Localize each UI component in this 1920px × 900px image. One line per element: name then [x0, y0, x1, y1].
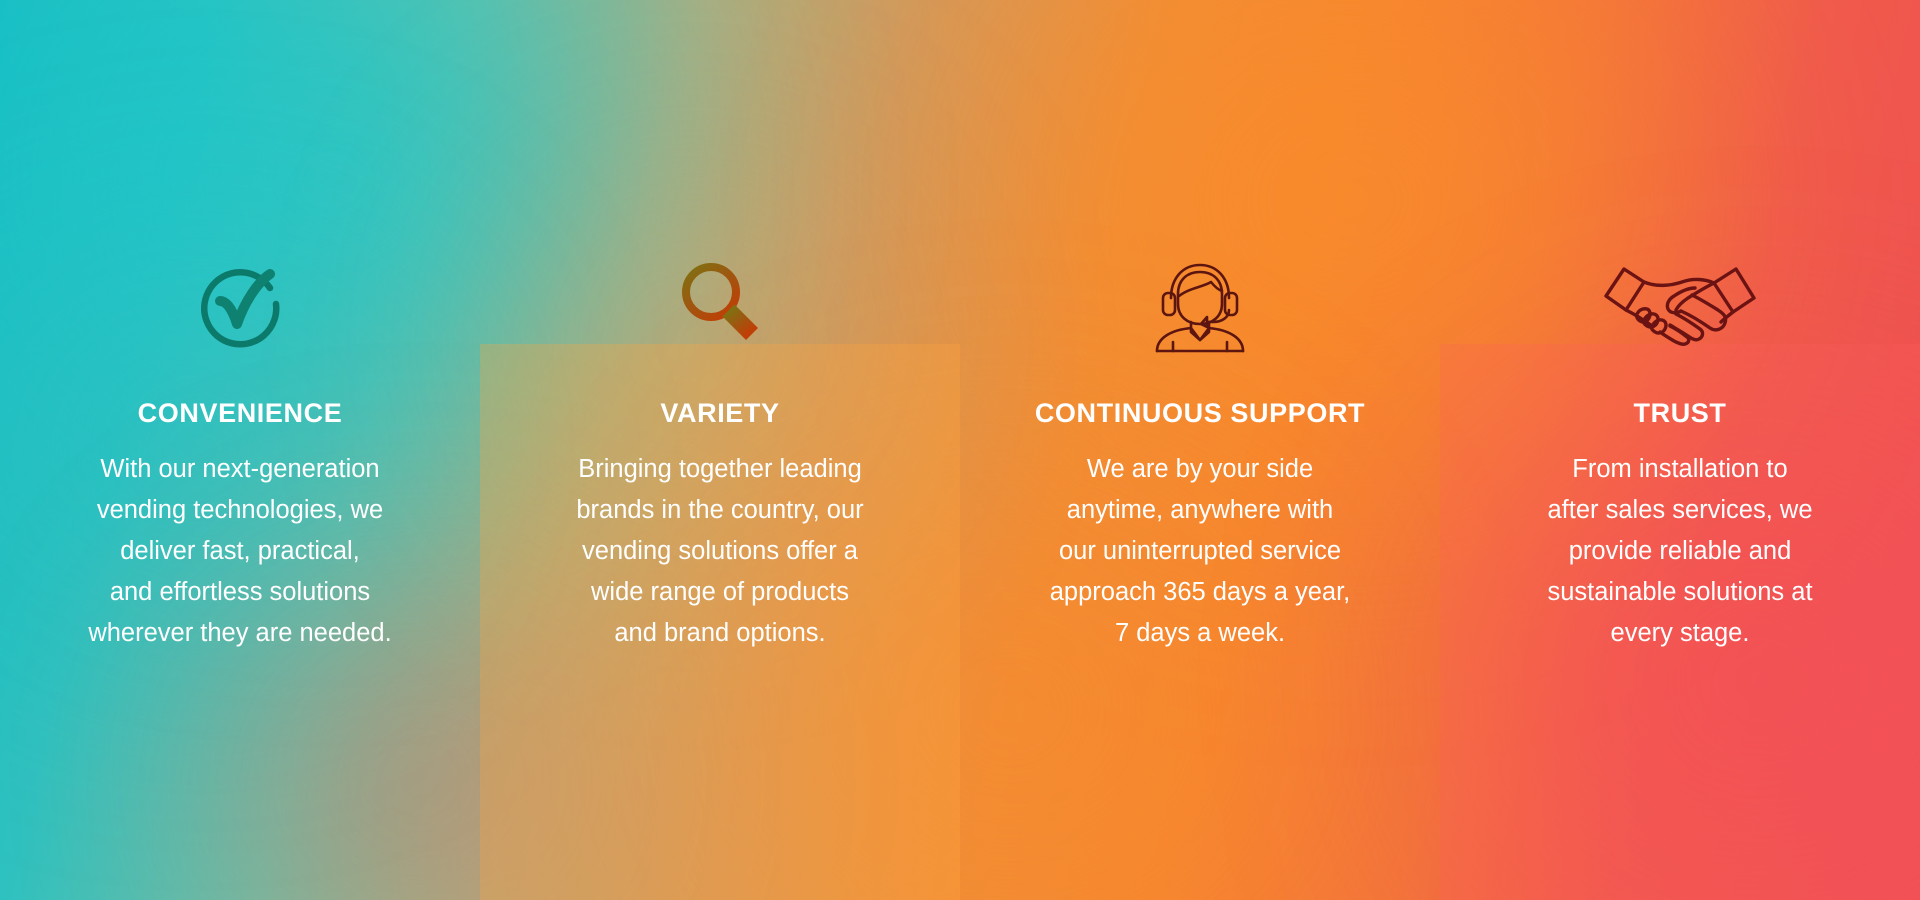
feature-description: Bringing together leading brands in the …: [520, 449, 920, 654]
check-circle-icon: [190, 246, 290, 362]
feature-description: We are by your side anytime, anywhere wi…: [1000, 449, 1400, 654]
feature-columns: CONVENIENCE With our next-generation ven…: [0, 0, 1920, 900]
feature-highlights-banner: CONVENIENCE With our next-generation ven…: [0, 0, 1920, 900]
feature-description: With our next-generation vending technol…: [40, 449, 440, 654]
feature-title: CONVENIENCE: [138, 400, 343, 427]
feature-card-trust: TRUST From installation to after sales s…: [1440, 0, 1920, 900]
feature-card-continuous-support: CONTINUOUS SUPPORT We are by your side a…: [960, 0, 1440, 900]
feature-description: From installation to after sales service…: [1480, 449, 1880, 654]
feature-title: TRUST: [1634, 400, 1727, 427]
feature-card-convenience: CONVENIENCE With our next-generation ven…: [0, 0, 480, 900]
handshake-icon: [1600, 246, 1760, 362]
feature-title: VARIETY: [660, 400, 779, 427]
feature-title: CONTINUOUS SUPPORT: [1035, 400, 1365, 427]
feature-card-variety: VARIETY Bringing together leading brands…: [480, 0, 960, 900]
headset-support-agent-icon: [1145, 246, 1255, 362]
magnifying-glass-icon: [670, 246, 770, 362]
